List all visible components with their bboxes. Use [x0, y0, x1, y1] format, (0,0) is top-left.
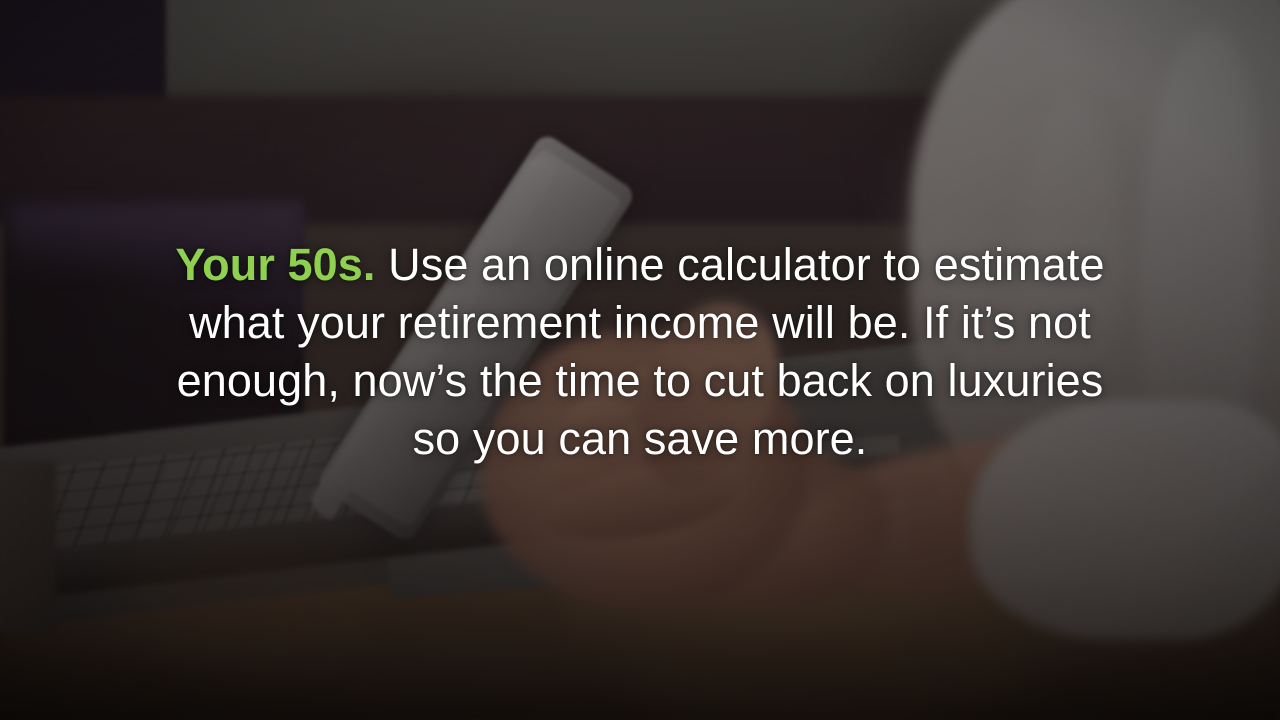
- monitor-screen: [0, 0, 166, 106]
- video-slide: Your 50s. Use an online calculator to es…: [0, 0, 1280, 720]
- caption-text-block: Your 50s. Use an online calculator to es…: [0, 236, 1280, 468]
- caption-lead-in: Your 50s.: [175, 239, 375, 290]
- laptop-hinge: [0, 462, 56, 632]
